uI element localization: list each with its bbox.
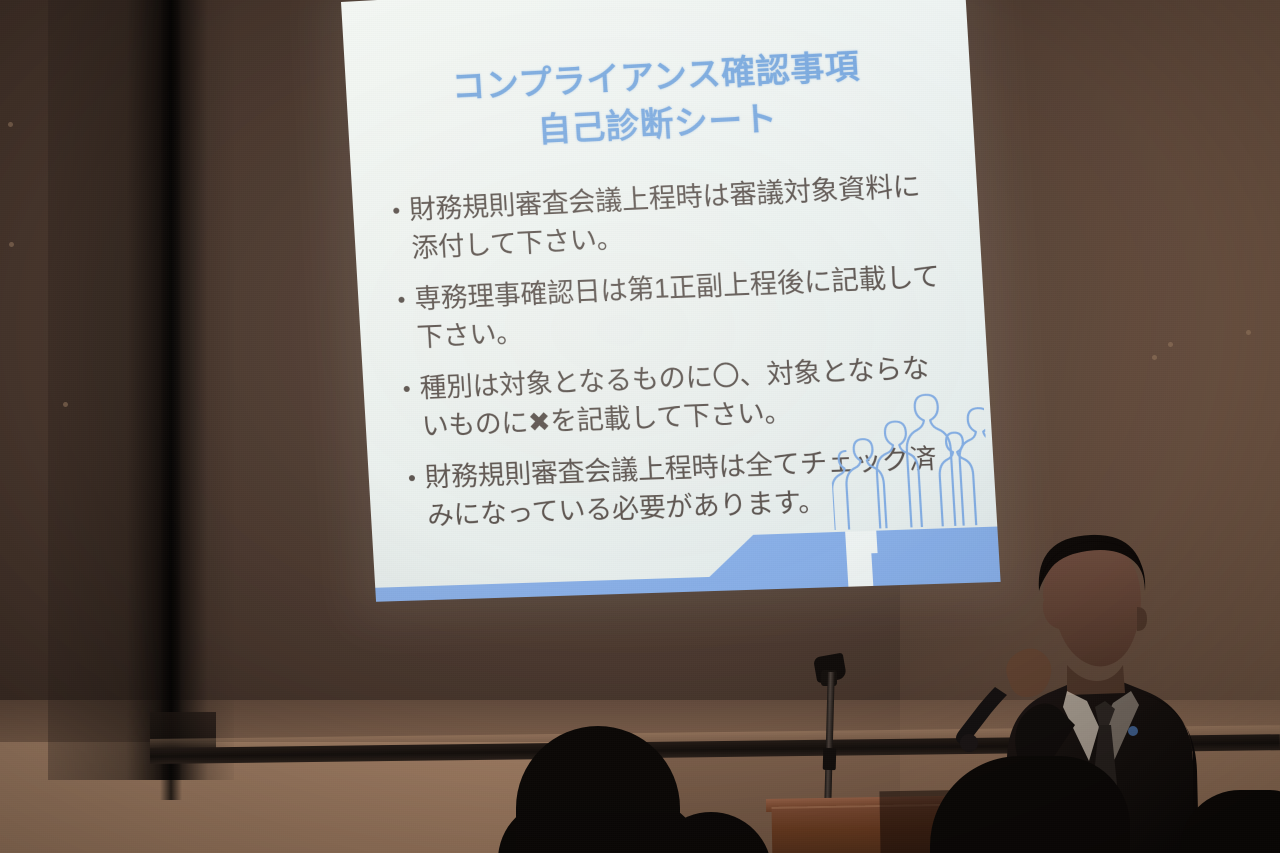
bullet-text: 財務規則審査会議上程時は審議対象資料に添付して下さい。: [408, 166, 945, 268]
bullet-dot-icon: [398, 297, 404, 303]
presentation-slide: コンプライアンス確認事項 自己診断シート 財務規則審査会議上程時は審議対象資料に…: [341, 0, 1001, 602]
bullet-dot-icon: [393, 208, 399, 214]
bullet-dot-icon: [404, 386, 410, 392]
bullet-text: 専務理事確認日は第1正副上程後に記載して下さい。: [413, 257, 950, 358]
microphone-stand-joint: [823, 748, 837, 770]
bullet-dot-icon: [409, 475, 415, 481]
projection-screen: コンプライアンス確認事項 自己診断シート 財務規則審査会議上程時は審議対象資料に…: [341, 0, 1001, 602]
lapel-pin: [1128, 726, 1138, 736]
slide-bottom-blue-band: [370, 469, 1001, 602]
wall-speck: [8, 122, 13, 127]
slide-title: コンプライアンス確認事項 自己診断シート: [345, 37, 974, 163]
list-item: 財務規則審査会議上程時は審議対象資料に添付して下さい。: [392, 166, 945, 269]
presentation-room-scene: コンプライアンス確認事項 自己診断シート 財務規則審査会議上程時は審議対象資料に…: [0, 0, 1280, 853]
wall-speck: [1246, 330, 1251, 335]
wall-speck: [63, 402, 68, 407]
wall-speck: [9, 242, 14, 247]
wall-speck: [1152, 355, 1157, 360]
curtain-seam: [160, 0, 182, 800]
wall-speck: [1168, 342, 1173, 347]
dark-curtain-band: [48, 0, 234, 780]
handheld-microphone-icon: [956, 687, 1007, 744]
neck: [1067, 665, 1125, 695]
slide-title-line2: 自己診断シート: [348, 85, 974, 163]
hand: [1006, 648, 1051, 697]
list-item: 専務理事確認日は第1正副上程後に記載して下さい。: [397, 257, 950, 358]
